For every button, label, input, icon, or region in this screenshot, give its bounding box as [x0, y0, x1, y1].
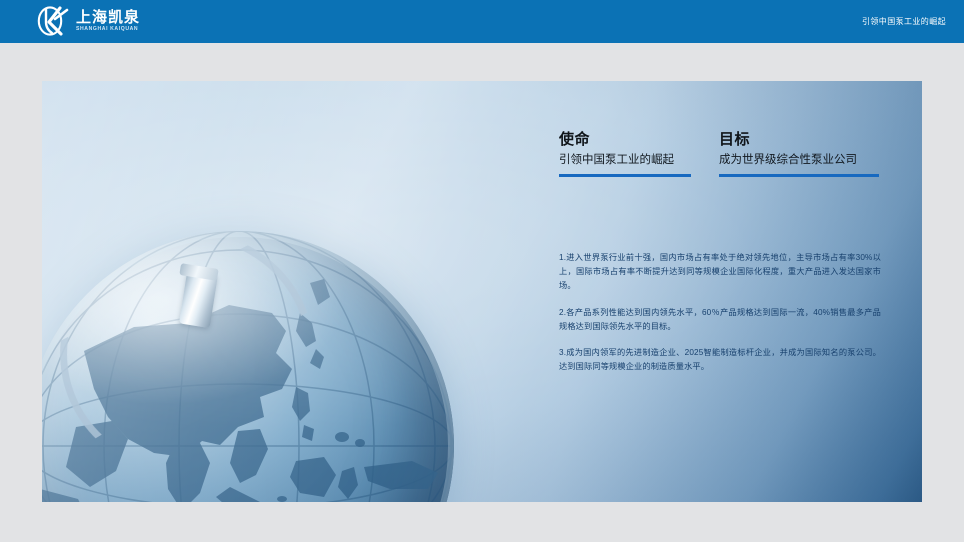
brand-name-en: SHANGHAI KAIQUAN	[76, 27, 141, 32]
goal-underline	[719, 174, 879, 177]
slide-content: 使命 引领中国泵工业的崛起 目标 成为世界级综合性泵业公司 1.进入世界泵行业前…	[521, 81, 901, 502]
mission-title: 使命	[559, 131, 691, 150]
paragraph-3: 3.成为国内领军的先进制造企业、2025智能制造标杆企业，并成为国际知名的泵公司…	[559, 346, 881, 374]
brand-logo[interactable]: 上海凯泉 SHANGHAI KAIQUAN	[36, 5, 140, 37]
globe-image	[42, 81, 512, 502]
brand-logo-text: 上海凯泉 SHANGHAI KAIQUAN	[76, 10, 140, 32]
slide-canvas: 使命 引领中国泵工业的崛起 目标 成为世界级综合性泵业公司 1.进入世界泵行业前…	[42, 81, 922, 502]
mission-subtitle: 引领中国泵工业的崛起	[559, 153, 691, 169]
body-paragraphs: 1.进入世界泵行业前十强，国内市场占有率处于绝对领先地位，主导市场占有率30%以…	[559, 243, 881, 374]
brand-name-cn: 上海凯泉	[76, 10, 140, 25]
paragraph-2: 2.各产品系列性能达到国内领先水平，60％产品规格达到国际一流，40%销售最多产…	[559, 306, 881, 334]
mission-block: 使命 引领中国泵工业的崛起	[559, 131, 691, 177]
goal-title: 目标	[719, 131, 879, 150]
kaiquan-k-logo-icon	[36, 5, 70, 37]
mission-underline	[559, 174, 691, 177]
top-brand-bar: 上海凯泉 SHANGHAI KAIQUAN 引领中国泵工业的崛起	[0, 0, 964, 43]
header-tagline: 引领中国泵工业的崛起	[862, 0, 946, 43]
goal-subtitle: 成为世界级综合性泵业公司	[719, 153, 879, 169]
paragraph-1: 1.进入世界泵行业前十强，国内市场占有率处于绝对领先地位，主导市场占有率30%以…	[559, 251, 881, 293]
headings-row: 使命 引领中国泵工业的崛起 目标 成为世界级综合性泵业公司	[559, 131, 879, 177]
goal-block: 目标 成为世界级综合性泵业公司	[719, 131, 879, 177]
